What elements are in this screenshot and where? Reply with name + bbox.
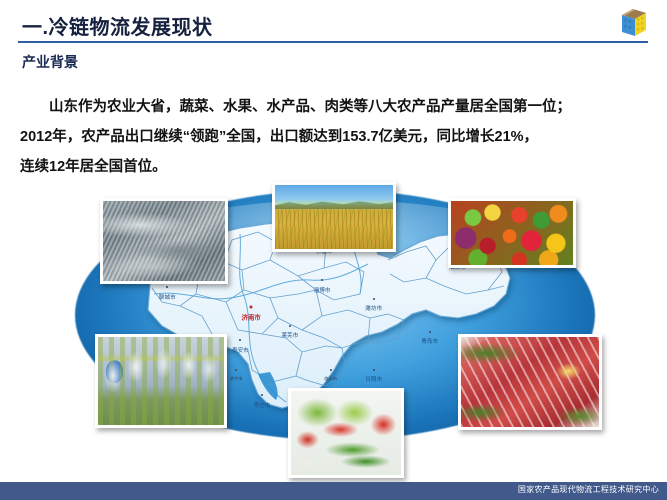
map-city-dot <box>166 286 168 288</box>
photo-fish <box>100 198 228 284</box>
map-city-label: 聊城市 <box>159 293 176 301</box>
map-city-label: 日照市 <box>365 375 382 383</box>
footer-organization: 国家农产品现代物流工程技术研究中心 <box>518 484 659 495</box>
map-city-dot <box>261 394 263 396</box>
body-line-1: 山东作为农业大省，蔬菜、水果、水产品、肉类等八大农产品产量居全国第一位； <box>20 92 654 122</box>
cube-box-logo-icon <box>619 6 649 38</box>
photo-fruits <box>448 198 576 268</box>
title-divider <box>18 41 648 43</box>
map-city-dot <box>235 369 237 371</box>
photo-processing-plant <box>95 334 227 428</box>
map-city-label: 青岛市 <box>421 337 438 345</box>
map-city-dot <box>239 339 241 341</box>
map-city-label: 临沂市 <box>324 376 337 382</box>
map-city-dot <box>330 369 332 371</box>
map-city-label: 潍坊市 <box>365 304 382 312</box>
map-city-dot <box>373 369 375 371</box>
photo-meat <box>458 334 602 430</box>
page-title: 一.冷链物流发展现状 <box>22 11 213 40</box>
map-city-dot <box>321 279 323 281</box>
body-line-2: 2012年，农产品出口继续“领跑”全国，出口额达到153.7亿美元，同比增长21… <box>20 122 654 152</box>
map-city-label: 枣庄市 <box>253 401 270 409</box>
body-paragraph: 山东作为农业大省，蔬菜、水果、水产品、肉类等八大农产品产量居全国第一位； 201… <box>20 92 654 182</box>
section-heading: 产业背景 <box>22 52 78 72</box>
map-city-dot <box>373 298 375 300</box>
map-city-label: 济宁市 <box>230 376 243 382</box>
map-city-label: 莱芜市 <box>281 331 298 339</box>
map-city-label: 泰安市 <box>232 346 249 354</box>
photo-wheat-field <box>272 182 396 252</box>
map-city-dot <box>289 325 291 327</box>
photo-vegetables <box>288 388 404 478</box>
map-city-dot <box>429 331 431 333</box>
map-city-dot <box>250 306 253 309</box>
map-city-label: 淄博市 <box>314 286 331 294</box>
map-city-label: 济南市 <box>242 312 261 321</box>
map-photo-collage: 济南市淄博市潍坊市烟台市青岛市泰安市莱芜市东营市滨州市德州市聊城市枣庄市日照市威… <box>0 170 667 482</box>
